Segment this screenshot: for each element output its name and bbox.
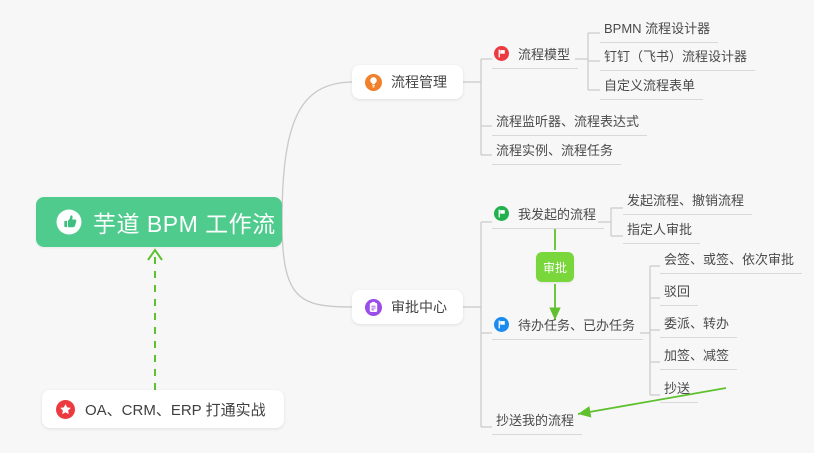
node-process-instance-task[interactable]: 流程实例、流程任务	[492, 140, 621, 165]
branch-node-process-management[interactable]: 流程管理	[352, 65, 463, 99]
flag-icon	[494, 317, 509, 332]
wire-root-to-process	[282, 82, 352, 222]
root-label: 芋道 BPM 工作流	[93, 205, 276, 239]
node-process-model[interactable]: 流程模型	[492, 44, 578, 69]
arrow-card-to-root-head	[148, 250, 162, 260]
node-label-process-model: 流程模型	[518, 44, 570, 63]
annotation-chip-label: 审批	[543, 259, 567, 276]
node-custom-process-form[interactable]: 自定义流程表单	[600, 75, 703, 100]
node-process-listener-expression[interactable]: 流程监听器、流程表达式	[492, 111, 647, 136]
node-delegate-transfer[interactable]: 委派、转办	[660, 313, 737, 338]
node-countersign-orsign-sequential[interactable]: 会签、或签、依次审批	[660, 249, 802, 274]
node-my-initiated-processes[interactable]: 我发起的流程	[492, 204, 604, 229]
node-label-reject: 驳回	[664, 281, 690, 300]
node-label-my-initiated-processes: 我发起的流程	[518, 204, 596, 223]
annotation-card-integration[interactable]: OA、CRM、ERP 打通实战	[42, 390, 284, 428]
node-todo-done-tasks[interactable]: 待办任务、已办任务	[492, 315, 643, 340]
node-dingtalk-feishu-designer[interactable]: 钉钉（飞书）流程设计器	[600, 46, 755, 71]
flag-icon	[494, 46, 509, 61]
node-label-delegate-transfer: 委派、转办	[664, 313, 729, 332]
branch-node-approval-center[interactable]: 审批中心	[352, 290, 463, 324]
node-label-custom-process-form: 自定义流程表单	[604, 75, 695, 94]
node-label-cc-to-me-processes: 抄送我的流程	[496, 410, 574, 429]
node-label-designated-approver: 指定人审批	[627, 219, 692, 238]
branch-label-approval-center: 审批中心	[391, 297, 447, 317]
arrow-cc-to-ccmine	[578, 388, 726, 414]
node-add-remove-signer[interactable]: 加签、减签	[660, 345, 737, 370]
mindmap-canvas: 芋道 BPM 工作流 流程管理 流程模型 BPMN 流程设计器 钉钉（飞书）流程	[0, 0, 814, 453]
node-cc[interactable]: 抄送	[660, 378, 698, 403]
node-label-todo-done-tasks: 待办任务、已办任务	[518, 315, 635, 334]
node-label-countersign-orsign-sequential: 会签、或签、依次审批	[664, 249, 794, 268]
node-label-dingtalk-feishu-designer: 钉钉（飞书）流程设计器	[604, 46, 747, 65]
node-bpmn-designer[interactable]: BPMN 流程设计器	[600, 18, 718, 43]
star-icon	[56, 400, 75, 419]
node-label-process-instance-task: 流程实例、流程任务	[496, 140, 613, 159]
branch-label-process-management: 流程管理	[391, 72, 447, 92]
lightbulb-icon	[365, 74, 382, 91]
annotation-chip-approval: 审批	[536, 252, 574, 282]
node-label-start-cancel-process: 发起流程、撤销流程	[627, 190, 744, 209]
clipboard-icon	[365, 299, 382, 316]
node-start-cancel-process[interactable]: 发起流程、撤销流程	[623, 190, 752, 215]
root-node[interactable]: 芋道 BPM 工作流	[36, 197, 282, 247]
node-cc-to-me-processes[interactable]: 抄送我的流程	[492, 410, 582, 435]
node-label-add-remove-signer: 加签、减签	[664, 345, 729, 364]
thumbs-up-icon	[56, 209, 82, 235]
node-label-process-listener-expression: 流程监听器、流程表达式	[496, 111, 639, 130]
wire-root-to-approve	[282, 222, 352, 307]
node-designated-approver[interactable]: 指定人审批	[623, 219, 700, 244]
node-reject[interactable]: 驳回	[660, 281, 698, 306]
node-label-cc: 抄送	[664, 378, 690, 397]
flag-icon	[494, 206, 509, 221]
node-label-bpmn-designer: BPMN 流程设计器	[604, 18, 710, 37]
annotation-card-label: OA、CRM、ERP 打通实战	[85, 399, 266, 420]
